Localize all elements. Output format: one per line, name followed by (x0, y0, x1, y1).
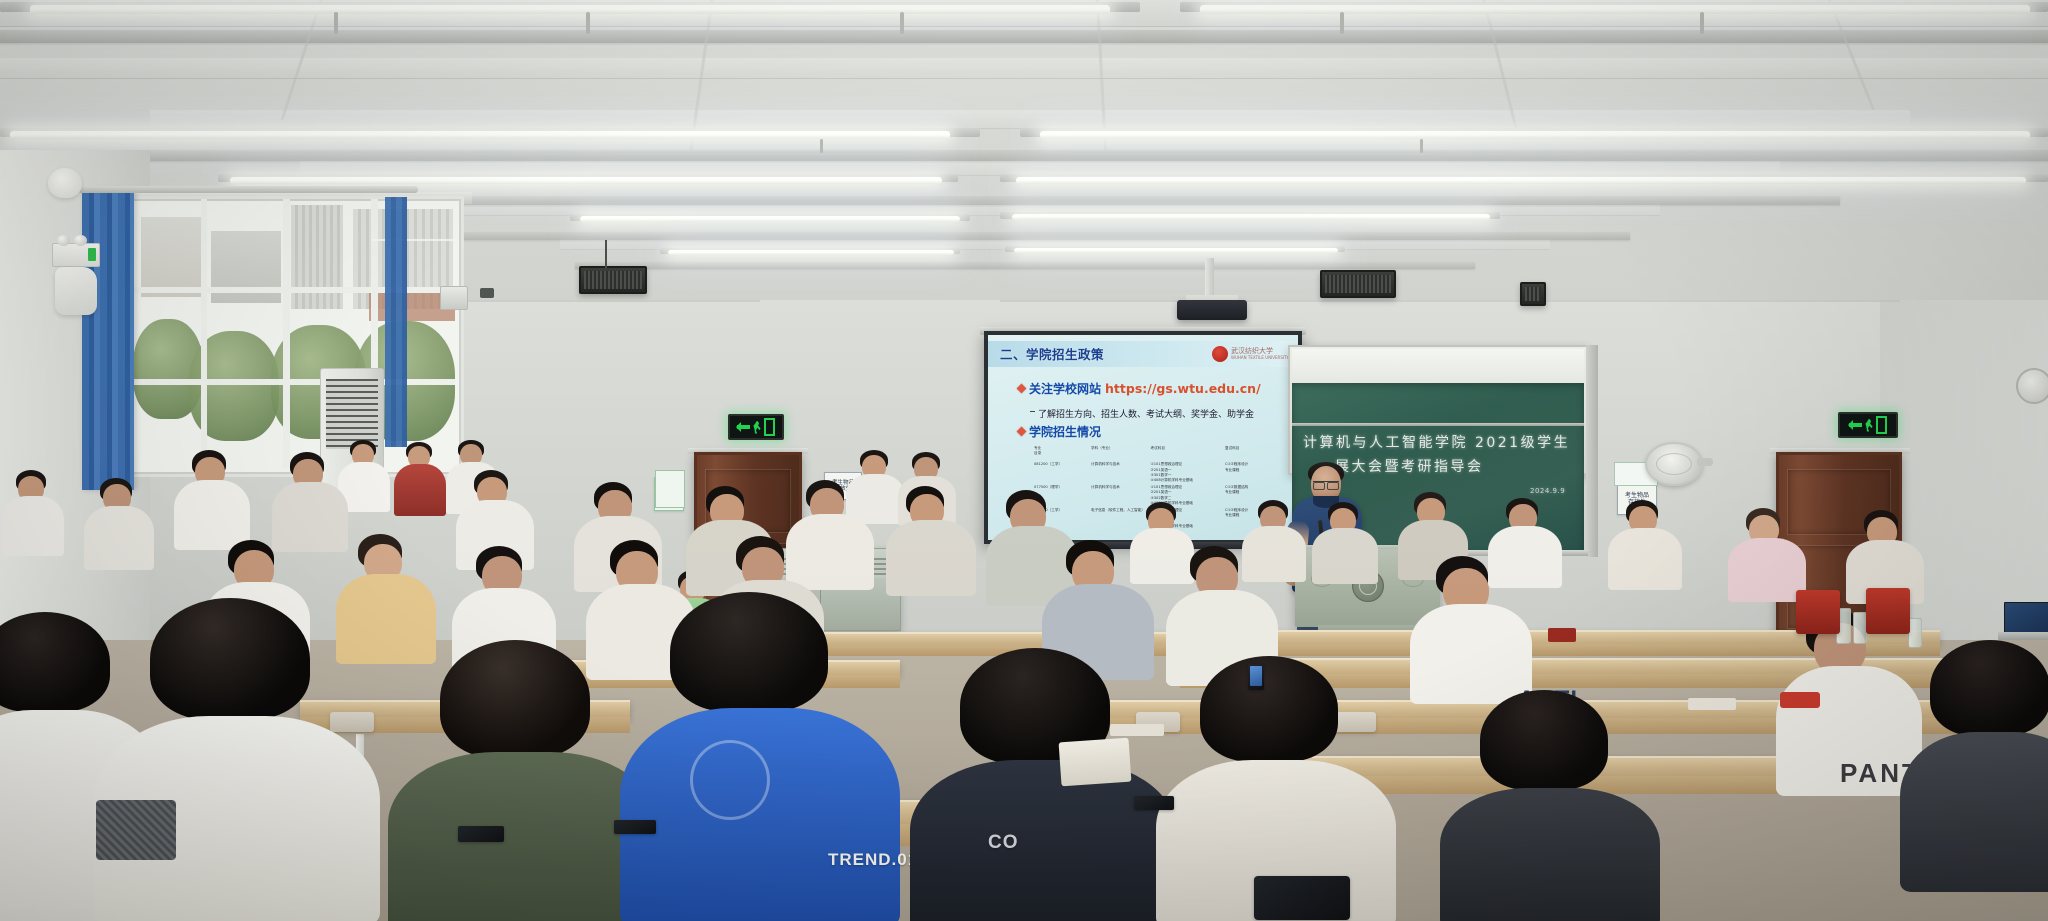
blackboard-line-1: 计算机与人工智能学院 2021级学生 (1303, 432, 1570, 452)
phone-screen (1250, 666, 1262, 686)
blackboard-date: 2024.9.9 (1530, 487, 1565, 495)
paper-on-desk (1110, 724, 1164, 736)
red-item-on-desk (1780, 692, 1820, 708)
cell-code: 081200（工学） (1032, 461, 1089, 484)
exit-sign-right (1838, 412, 1898, 438)
slide-bullet-2: 学院招生情况 (1018, 423, 1101, 440)
exit-door-icon (1876, 416, 1887, 434)
diamond-bullet-icon (1017, 384, 1027, 394)
student-body (1728, 538, 1806, 602)
blackboard-divider (1292, 423, 1584, 426)
slide-subline: 了解招生方向、招生人数、考试大纲、奖学金、助学金 (1038, 407, 1254, 420)
light-hanger (1700, 12, 1704, 34)
exit-door-icon (764, 418, 775, 436)
speaker-mesh-icon (584, 271, 642, 289)
wall-speaker (1320, 270, 1396, 298)
wall-speaker (579, 266, 647, 294)
student-hair (670, 592, 828, 712)
glasses-icon (1313, 481, 1339, 488)
student-body (1242, 526, 1306, 582)
student-hair (1200, 656, 1338, 762)
cell-major: 计算机科学与技术 (1089, 484, 1149, 507)
arrow-left-icon (737, 425, 750, 429)
ceiling-tube-light (230, 177, 942, 184)
window-mullion (283, 199, 290, 468)
ceiling-slab (150, 110, 1910, 129)
wall-lamp-icon (48, 168, 82, 198)
lecture-hall-photo: 二、学院招生政策 武汉纺织大学 WUHAN TEXTILE UNIVERSITY… (0, 0, 2048, 921)
chair-back (1332, 712, 1376, 732)
backpack-under-desk (96, 800, 176, 860)
running-person-icon (1864, 419, 1874, 432)
wall-junction-box (440, 286, 468, 310)
exit-sign-left (728, 414, 784, 440)
building-silhouette (291, 205, 343, 309)
tablet-on-desk[interactable] (1254, 876, 1350, 920)
emergency-light-unit (52, 243, 100, 267)
cell-major: 电子信息（软件工程、人工智能） (1089, 507, 1149, 530)
student-hair (150, 598, 310, 720)
diamond-bullet-icon (1017, 427, 1027, 437)
bullet1-url[interactable]: https://gs.wtu.edu.cn/ (1105, 381, 1261, 396)
student-hair (1480, 690, 1608, 790)
jersey-graphic-icon (690, 740, 770, 820)
emergency-bulb-icon (74, 235, 87, 246)
ceiling-tube-light (1040, 131, 2030, 139)
student-body (1312, 528, 1378, 584)
ceiling-tube-light (668, 250, 954, 255)
bag-on-desk (1059, 738, 1132, 787)
wall-poster (655, 470, 685, 508)
student-body (1900, 732, 2048, 892)
slide-bullet-1: 关注学校网站 https://gs.wtu.edu.cn/ (1018, 380, 1261, 397)
light-hanger (586, 12, 590, 34)
ceiling-tube-light (10, 131, 950, 139)
ceiling-tube-light (1014, 248, 1338, 253)
fan-cage-icon (1645, 442, 1703, 486)
phone-on-desk[interactable] (614, 820, 656, 834)
student-body (620, 708, 900, 921)
window-curtain-right[interactable] (385, 197, 407, 447)
light-hanger (334, 12, 338, 34)
red-stool[interactable] (1796, 590, 1840, 634)
ceiling-tube-light (1012, 214, 1490, 220)
shirt-text-code: CO (988, 832, 1019, 854)
light-hanger (820, 139, 823, 153)
paper-on-desk (1688, 698, 1736, 710)
cell-retest: C①②程序设计 专业课程 (1223, 461, 1280, 484)
student-body (1130, 528, 1194, 584)
speaker-cable (605, 240, 607, 268)
wall-sensor-icon (480, 288, 494, 298)
speaker-mesh-icon (1525, 287, 1541, 301)
light-hanger (900, 12, 904, 34)
wall-speaker (1520, 282, 1546, 306)
ceiling-tube-light (1200, 5, 2030, 14)
window-curtain-left[interactable] (82, 190, 134, 490)
running-person-icon (752, 421, 762, 434)
ceiling-slab (0, 58, 2048, 79)
student-body (174, 480, 250, 550)
student-body (394, 464, 446, 516)
light-hanger (1340, 12, 1344, 34)
student-body (910, 760, 1176, 921)
red-stool[interactable] (1866, 588, 1910, 634)
window-cable (371, 239, 455, 241)
phone-on-desk[interactable] (458, 826, 504, 842)
curtain-rod (78, 186, 418, 193)
red-marker-object (1548, 628, 1576, 642)
wall-clock-icon (2016, 368, 2048, 404)
table-header-cell: 考试科目 (1149, 445, 1223, 461)
student-body (336, 574, 436, 664)
shirt-text-trend: TREND.01 (828, 850, 918, 870)
table-header-cell: 学科（专业） (1089, 445, 1149, 461)
table-row: 081200（工学） 计算机科学与技术 ①101思想政治理论 ②201英语一 ③… (1032, 461, 1280, 484)
ceiling-tube-light (30, 5, 1110, 14)
cell-subjects: ①101思想政治理论 ②201英语一 ③301数学一 ④408计算机学科专业基础 (1149, 461, 1223, 484)
student-body (84, 506, 154, 570)
ceiling-tube-light (580, 216, 960, 222)
ceiling-beam (0, 150, 2048, 161)
student-body (2, 496, 64, 556)
student-hair (440, 640, 590, 758)
student-body (388, 752, 658, 921)
table-header-cell: 复试科目 (1223, 445, 1280, 461)
student-body (786, 514, 874, 590)
student-body (886, 520, 976, 596)
soap-dispenser[interactable] (55, 267, 97, 315)
student-body (1410, 604, 1532, 704)
wall-conduit (1000, 300, 1900, 302)
whiteboard-strip (1292, 349, 1584, 383)
student-body (272, 482, 348, 552)
bullet1-label: 关注学校网站 (1029, 380, 1101, 397)
ceiling-projector (1177, 300, 1247, 320)
blackboard-side-rail (1586, 345, 1598, 557)
bullet2-label: 学院招生情况 (1029, 423, 1101, 440)
ceiling-tube-light (1016, 177, 2026, 184)
university-logo: 武汉纺织大学 WUHAN TEXTILE UNIVERSITY (1212, 343, 1290, 365)
student-body (1440, 788, 1660, 921)
water-bottle[interactable] (1908, 618, 1922, 648)
student-body (1608, 528, 1682, 590)
light-hanger (1420, 139, 1423, 153)
cell-major: 计算机科学与技术 (1089, 461, 1149, 484)
table-header-row: 专业 目录 学科（专业） 考试科目 复试科目 (1032, 445, 1280, 461)
blackboard-line-2: 展大会暨考研指导会 (1335, 456, 1484, 476)
student-hair (1930, 640, 2048, 736)
window-mullion (201, 199, 207, 468)
status-led (88, 248, 96, 261)
ceiling-beam (575, 262, 1475, 269)
water-bottle[interactable] (1853, 612, 1867, 644)
sub-dash-icon (1030, 411, 1035, 412)
chair-back (330, 712, 374, 732)
wall-fan[interactable] (1645, 442, 1703, 486)
emergency-bulb-icon (57, 235, 70, 246)
arrow-left-icon (1849, 423, 1862, 427)
phone-on-desk[interactable] (1134, 796, 1174, 810)
ceiling-beam (420, 232, 1630, 240)
slide-title: 二、学院招生政策 (1000, 344, 1104, 363)
window (128, 196, 464, 477)
logo-mark-icon (1212, 346, 1228, 362)
building-silhouette (141, 217, 201, 297)
laptop-screen[interactable] (2004, 602, 2048, 634)
speaker-mesh-icon (1325, 275, 1391, 293)
student-body (1488, 526, 1562, 588)
laptop-base (1998, 632, 2048, 640)
ac-grille (326, 379, 378, 449)
table-header-cell: 专业 目录 (1032, 445, 1089, 461)
fan-mount-arm (1697, 458, 1713, 466)
logo-subtext: WUHAN TEXTILE UNIVERSITY (1231, 356, 1289, 360)
